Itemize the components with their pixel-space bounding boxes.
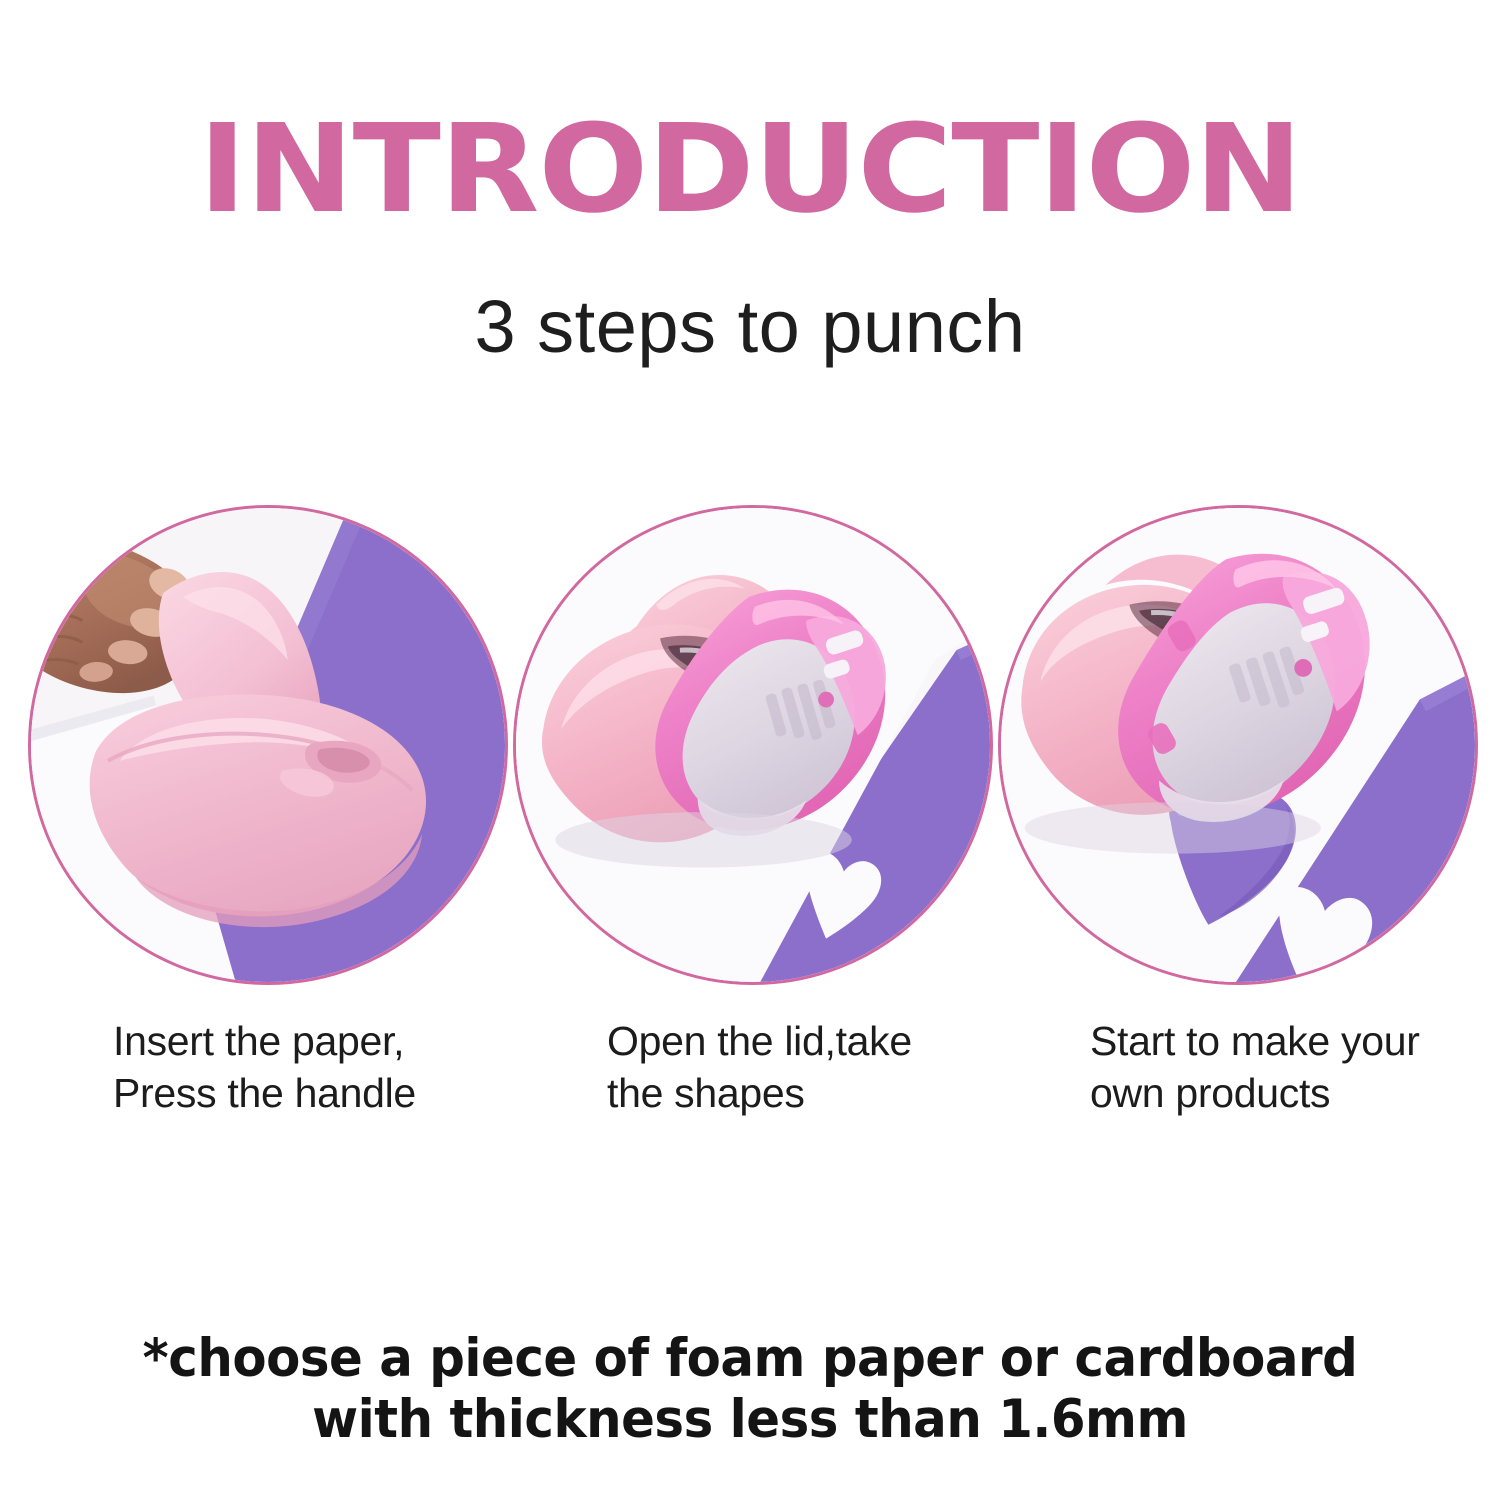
punch-lid-open-illustration	[513, 505, 993, 985]
step-item-3: Start to make your own products	[998, 505, 1478, 1125]
step-item-1: Insert the paper, Press the handle	[28, 505, 508, 1125]
punched-heart-illustration	[998, 505, 1478, 985]
step-3-caption: Start to make your own products	[1090, 1015, 1490, 1120]
page-subtitle: 3 steps to punch	[0, 290, 1500, 364]
footer-note: *choose a piece of foam paper or cardboa…	[45, 1328, 1455, 1451]
step-1-photo	[28, 505, 508, 985]
step-item-2: Open the lid,take the shapes	[513, 505, 993, 1125]
steps-row: Insert the paper, Press the handle	[0, 505, 1500, 1125]
hand-pressing-punch-illustration	[28, 505, 508, 985]
step-1-caption: Insert the paper, Press the handle	[113, 1015, 513, 1120]
step-2-photo	[513, 505, 993, 985]
step-2-caption: Open the lid,take the shapes	[607, 1015, 1007, 1120]
step-3-photo	[998, 505, 1478, 985]
page-title: INTRODUCTION	[0, 108, 1500, 230]
